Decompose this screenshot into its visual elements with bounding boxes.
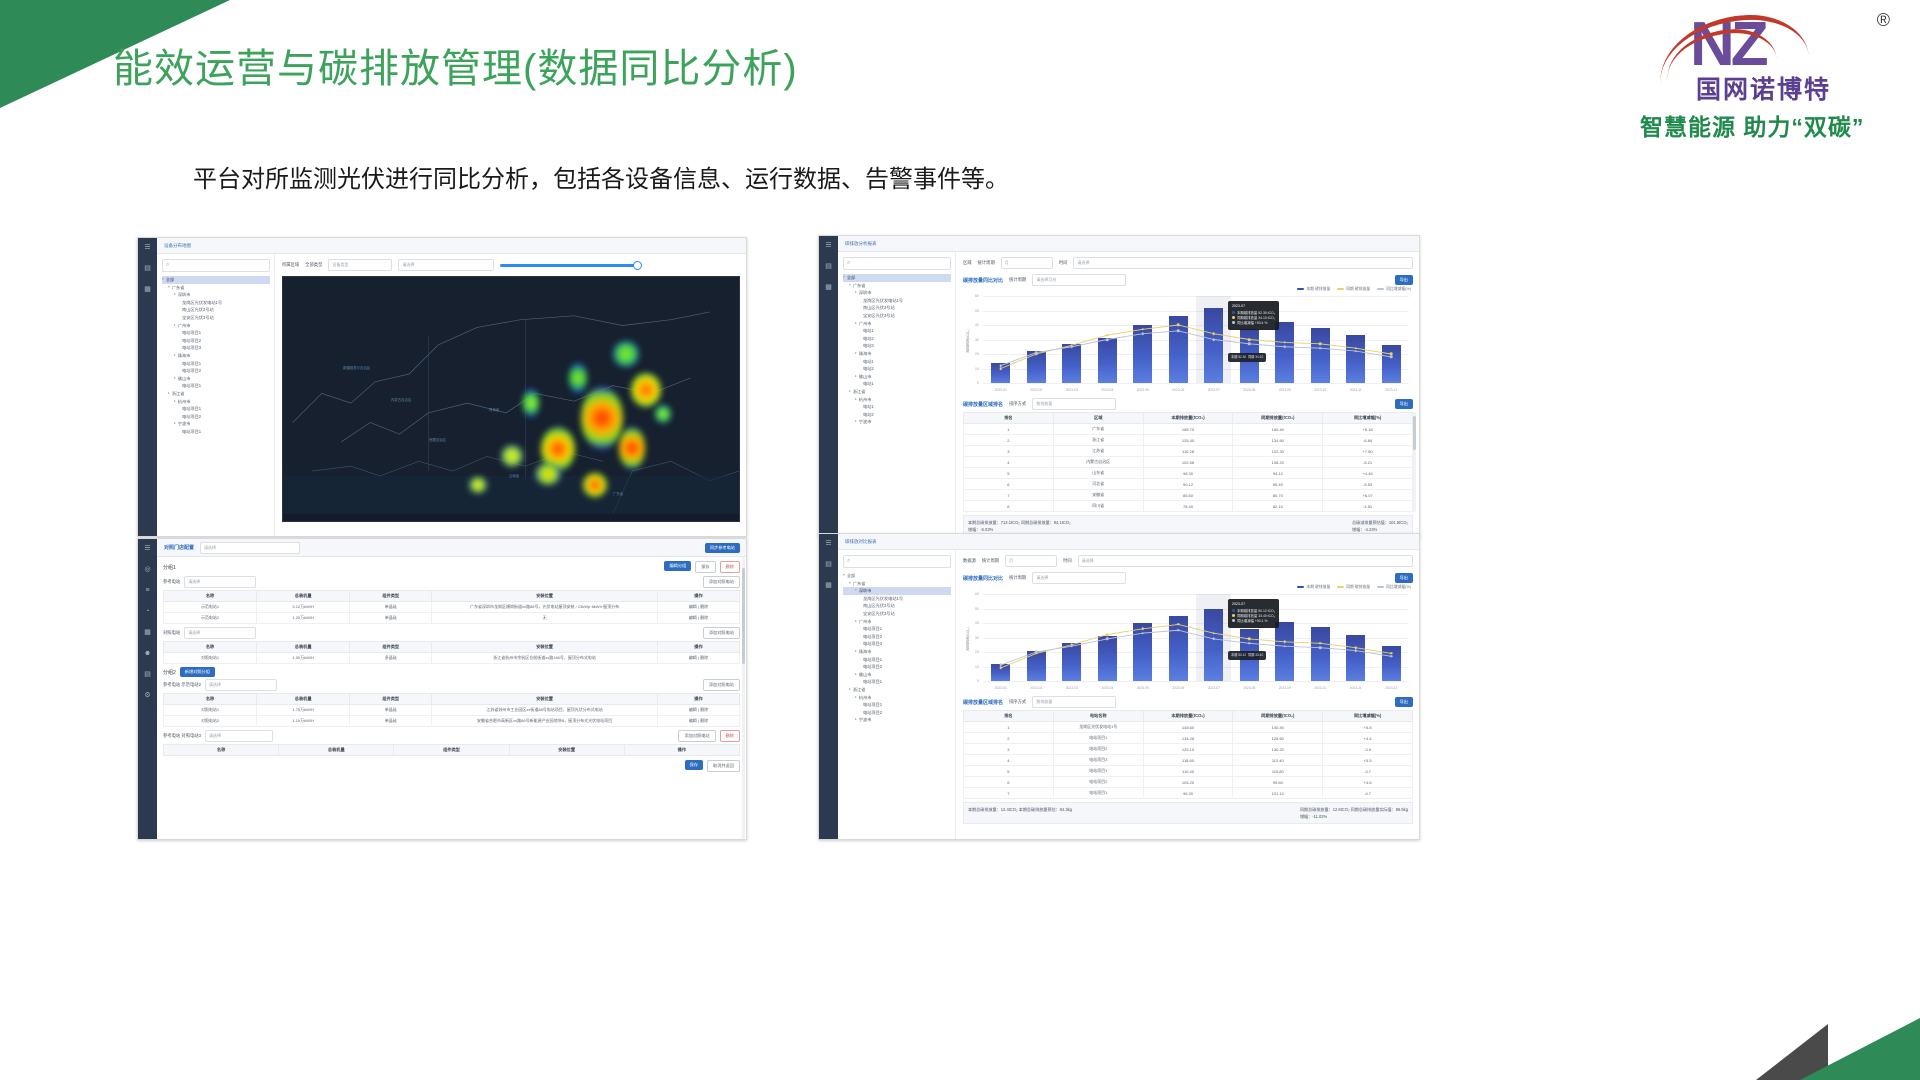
chevron-icon[interactable]: ▸ [174, 420, 176, 428]
chevron-icon[interactable]: ▸ [855, 373, 857, 381]
section-select[interactable]: 请选择 [205, 679, 277, 691]
tree-node-label: 浙江省 [172, 390, 185, 398]
tree-node[interactable]: 电站项目2 [162, 413, 270, 421]
menu-icon[interactable]: ☰ [143, 544, 152, 553]
logo-company-name: 国网诺博特 [1696, 70, 1831, 106]
tree-node[interactable]: 电站项目1 [843, 656, 951, 664]
tree-node[interactable]: 电站项目1 [843, 678, 951, 686]
gauge-icon[interactable]: ◔ [143, 607, 152, 616]
save-button[interactable]: 保存 [685, 760, 703, 770]
table-cell: 102.30 [1233, 446, 1323, 457]
data-point[interactable] [1354, 649, 1357, 652]
chevron-icon[interactable]: ▾ [843, 274, 845, 282]
doc-icon[interactable]: ▦ [824, 581, 833, 590]
table-column-header[interactable]: 排名 [964, 413, 1054, 424]
chevron-icon[interactable]: ▸ [174, 322, 176, 330]
data-point[interactable] [1248, 642, 1251, 645]
table-column-header[interactable]: 操作 [624, 745, 739, 756]
table-column-header[interactable]: 操作 [657, 591, 739, 602]
tree-node[interactable]: ▾深圳市 [843, 587, 951, 595]
row-actions[interactable]: 编辑 | 删除 [657, 613, 739, 624]
table-cell: 4 [964, 755, 1054, 766]
table-cell: 江苏省苏州市工业园区xx街道88号电站项目，屋顶光伏分布式电站 [432, 705, 658, 716]
add-compare-station-button[interactable]: 添加对照电站 [703, 576, 740, 588]
table-column-header[interactable]: 本期排放量(tCO₂) [1143, 711, 1233, 722]
scrollbar-thumb[interactable] [742, 568, 745, 664]
data-point[interactable] [1070, 345, 1073, 348]
chevron-icon[interactable]: ▾ [843, 572, 845, 580]
filter-time-select[interactable]: 请选择 [1078, 555, 1413, 567]
section-select[interactable]: 请选择 [184, 627, 256, 639]
legend-label: 同比增减幅(%) [1386, 287, 1411, 291]
y-tick-label: 30 [975, 636, 979, 640]
chevron-icon[interactable]: ▸ [168, 390, 170, 398]
x-tick-label: 2023-06 [1172, 388, 1184, 392]
chart-tooltip: 2023-07本期碳排放量 50.12 tCO₂同期碳排放量 33.40 tCO… [1228, 599, 1279, 627]
x-tick-label: 2023-04 [1101, 686, 1113, 690]
data-point[interactable] [1035, 351, 1038, 354]
table-column-header[interactable]: 电站名称 [1053, 711, 1143, 722]
x-tick-label: 2023-11 [1350, 686, 1362, 690]
heat-blob [501, 445, 523, 467]
search-icon: ⌕ [847, 260, 850, 267]
chevron-icon[interactable]: ▸ [174, 375, 176, 383]
chevron-icon[interactable]: ▸ [855, 350, 857, 358]
tree-node-label: 电站项目1 [863, 701, 882, 709]
tree-node[interactable]: ▸珠海市 [843, 350, 951, 358]
tree-node-label: 广州市 [859, 320, 872, 328]
compare-sections: 参考电站请选择添加对照电站名称总装机量组件类型安装位置操作示范电站13.12万k… [163, 576, 740, 772]
table-column-header[interactable]: 操作 [657, 694, 739, 705]
legend-item[interactable]: 同比增减幅(%) [1377, 287, 1411, 292]
table-column-header[interactable]: 总装机量 [279, 745, 394, 756]
y-tick-label: 10 [975, 367, 979, 371]
tree-node[interactable]: 电站项目2 [843, 663, 951, 671]
filter-type-select[interactable]: 设备类型 [328, 259, 392, 271]
summary-left-line1: 本期总碳排放量：713.1tCO₂ 同期总碳排放量：94.1tCO₂ [968, 519, 1071, 526]
group2-tab[interactable]: 分组2 [163, 669, 176, 676]
tree-node[interactable]: 南山区光伏2号站 [843, 304, 951, 312]
compare-section: 参考电站请选择添加对照电站名称总装机量组件类型安装位置操作示范电站13.12万k… [163, 576, 740, 624]
tree-node[interactable]: ▸广州市 [162, 322, 270, 330]
table-cell: +7.80 [1323, 446, 1413, 457]
chevron-icon[interactable]: ▸ [849, 388, 851, 396]
table-column-header[interactable]: 名称 [164, 642, 257, 653]
tree-node[interactable]: ▾全部 [843, 572, 951, 580]
table-cell: 168.70 [1143, 424, 1233, 435]
table-cell: -4.7 [1323, 788, 1413, 799]
tree-node[interactable]: ▸杭州市 [162, 398, 270, 406]
y-tick-label: 60 [975, 592, 979, 596]
logo-tagline: 智慧能源 助力“双碳” [1640, 108, 1864, 142]
tree-node[interactable]: ▸浙江省 [843, 388, 951, 396]
table-cell: 7 [964, 490, 1054, 501]
tree-node[interactable]: 电站项目1 [162, 405, 270, 413]
carbon-bar-chart[interactable]: 本期 碳排放量同期 碳排放量同比增减幅(%)碳排放量(tCO₂)01020304… [963, 586, 1413, 692]
settings-icon[interactable]: ⚙ [143, 691, 152, 700]
chevron-icon[interactable]: ▸ [855, 320, 857, 328]
table-cell: 80.70 [1233, 490, 1323, 501]
table-row: 6电站项目2104.2099.60+4.6 [964, 777, 1413, 788]
compare-section: 参考电站 示范电站2请选择添加对照电站名称总装机量组件类型安装位置操作对照电站1… [163, 679, 740, 727]
table-cell: 电站项目2 [1053, 777, 1143, 788]
tree-node[interactable]: ▾广东省 [843, 282, 951, 290]
store-select-placeholder: 请选择 [204, 545, 216, 551]
table-column-header[interactable]: 同期排放量(tCO₂) [1233, 413, 1323, 424]
tree-node[interactable]: 电站项目2 [162, 367, 270, 375]
chevron-icon[interactable]: ▸ [855, 418, 857, 426]
table-cell: -5.21 [1323, 457, 1413, 468]
add-compare-station-button[interactable]: 添加对照电站 [703, 679, 740, 691]
table-column-header[interactable]: 名称 [164, 694, 257, 705]
map-filter-bar: 所属区域 全部类型 设备类型 请选择 [282, 259, 740, 271]
filter-source-label: 数据源 [963, 558, 976, 564]
heatmap-map[interactable]: 内蒙古自治区 新疆维吾尔自治区 西藏自治区 青海省 云南省 广东省 [282, 276, 740, 522]
chevron-icon[interactable]: ▾ [855, 587, 857, 595]
tree-node[interactable]: 电站项目1 [843, 701, 951, 709]
x-tick-label: 2023-06 [1172, 686, 1184, 690]
tree-node-label: 电站3 [863, 342, 874, 350]
chevron-icon[interactable]: ▸ [855, 671, 857, 679]
chevron-icon[interactable]: ▸ [174, 352, 176, 360]
footer-select[interactable]: 请选择 [205, 730, 273, 742]
data-point[interactable] [999, 364, 1002, 367]
chevron-icon[interactable]: ▸ [855, 716, 857, 724]
menu-icon[interactable]: ☰ [143, 243, 152, 252]
table-cell: 8 [964, 501, 1054, 512]
footer-add-button[interactable]: 添加对照电站 [678, 730, 715, 742]
tree-node[interactable]: ▸深圳市 [843, 289, 951, 297]
tree-node-label: 宁波市 [859, 716, 872, 724]
row-actions[interactable]: 编辑 | 删除 [657, 602, 739, 613]
rank-sort-value: 按排放量 [1036, 699, 1052, 705]
menu-icon[interactable]: ☰ [824, 241, 833, 250]
data-point[interactable] [1177, 629, 1180, 632]
tree-node[interactable]: ▸广州市 [843, 618, 951, 626]
chart-export-button[interactable]: 导出 [1395, 573, 1413, 583]
vertical-scrollbar[interactable] [1413, 412, 1416, 512]
tree-node[interactable]: 电站项目1 [162, 329, 270, 337]
table-column-header[interactable]: 总装机量 [257, 694, 350, 705]
chevron-icon[interactable]: ▾ [849, 580, 851, 588]
data-point[interactable] [1177, 330, 1180, 333]
tree-node-label: 广东省 [172, 284, 185, 292]
tree-node[interactable]: ▸宁波市 [162, 420, 270, 428]
report-icon[interactable]: ▤ [143, 670, 152, 679]
table-cell: +4.6 [1323, 777, 1413, 788]
tree-node[interactable]: 龙岗区光伏发电站1号 [162, 299, 270, 307]
tree-node[interactable]: 电站2 [843, 365, 951, 373]
filter-region-value[interactable]: 全部类型 [305, 262, 322, 268]
table-row: 6河北省90.1295.40-5.53 [964, 479, 1413, 490]
table-column-header[interactable]: 名称 [164, 745, 279, 756]
rank-table-title: 碳排放量区域排名 [963, 699, 1003, 706]
data-point[interactable] [999, 664, 1002, 667]
tooltip-value: 34.10 tCO₂ [1258, 316, 1275, 320]
map-region-label: 内蒙古自治区 [391, 397, 411, 402]
legend-item[interactable]: 同比增减幅(%) [1377, 585, 1411, 590]
tree-node[interactable]: 电站1 [843, 380, 951, 388]
sync-reference-button[interactable]: 同步参考电站 [705, 543, 740, 553]
tree-node[interactable]: 电站1 [843, 403, 951, 411]
footer-table: 名称总装机量组件类型安装位置操作 [163, 744, 740, 756]
data-point[interactable] [1141, 632, 1144, 635]
table-cell: 安徽省合肥市高新区xx路66号新能源产业园地块B，屋顶分布式光伏电站项目 [432, 716, 658, 727]
tree-node[interactable]: 电站项目3 [843, 640, 951, 648]
tooltip-compare-footer: 本期 52.30 同期 34.10 [1228, 353, 1266, 362]
tree-node-label: 电站2 [863, 365, 874, 373]
table-cell: 90.12 [1143, 479, 1233, 490]
table-cell: 对照电站2 [164, 716, 257, 727]
tree-node[interactable]: ▸宁波市 [843, 418, 951, 426]
row-actions[interactable]: 编辑 | 删除 [657, 716, 739, 727]
section-select[interactable]: 请选择 [184, 576, 256, 588]
tree-node[interactable]: 电站2 [843, 411, 951, 419]
table-column-header[interactable]: 安装位置 [509, 745, 624, 756]
chevron-icon[interactable]: ▸ [855, 694, 857, 702]
table-column-header[interactable]: 区域 [1053, 413, 1143, 424]
table-column-header[interactable]: 总装机量 [257, 642, 350, 653]
tree-node[interactable]: ▸宁波市 [843, 716, 951, 724]
data-point[interactable] [1106, 338, 1109, 341]
doc-icon[interactable]: ▦ [824, 283, 833, 292]
tree-node[interactable]: ▸浙江省 [162, 390, 270, 398]
tree-node[interactable]: ▸佛山市 [162, 375, 270, 383]
summary-right-line2: 增幅：-11.02% [1300, 813, 1408, 820]
rank-sort-select[interactable]: 按排放量 [1032, 696, 1116, 708]
section-select-placeholder: 请选择 [188, 579, 200, 585]
data-point[interactable] [1390, 655, 1393, 658]
dashboard-icon[interactable]: ◎ [143, 565, 152, 574]
tree-node[interactable]: ▾全部 [162, 276, 270, 284]
table-column-header[interactable]: 安装位置 [432, 694, 658, 705]
grid-icon[interactable]: ▦ [143, 628, 152, 637]
breadcrumb-bar: 碳排放对比报表 [838, 534, 1419, 550]
y-tick-label: 20 [975, 650, 979, 654]
tree-node[interactable]: 宝安区光伏3号站 [843, 312, 951, 320]
tree-node[interactable]: ▸浙江省 [843, 686, 951, 694]
data-point[interactable] [1354, 350, 1357, 353]
chevron-icon[interactable]: ▸ [855, 396, 857, 404]
table-row: 对照电站11.00万kW/H多晶硅浙江省杭州市余杭区仓前街道xx路166号，屋顶… [164, 653, 740, 664]
chevron-icon[interactable]: ▾ [849, 282, 851, 290]
chevron-icon[interactable]: ▾ [162, 276, 164, 284]
tree-search-input[interactable]: ⌕ [843, 555, 951, 568]
store-select[interactable]: 请选择 [200, 542, 300, 554]
data-point[interactable] [1212, 638, 1215, 641]
chevron-icon[interactable]: ▸ [855, 618, 857, 626]
rank-export-button[interactable]: 导出 [1395, 399, 1413, 409]
filter-period-label: 统计周期 [982, 558, 999, 564]
legend-item[interactable]: 本期 碳排放量 [1297, 287, 1330, 292]
filter-period-select[interactable]: 月 [1001, 257, 1053, 269]
tree-search-input[interactable]: ⌕ [162, 259, 270, 272]
tree-node[interactable]: ▸珠海市 [162, 352, 270, 360]
tree-node[interactable]: ▸杭州市 [843, 694, 951, 702]
legend-item[interactable]: 本期 碳排放量 [1297, 585, 1330, 590]
tree-node[interactable]: ▾广东省 [843, 580, 951, 588]
tree-node-label: 深圳市 [859, 289, 872, 297]
data-point[interactable] [1283, 345, 1286, 348]
region-tree-panel: ⌕ ▾全部▾广东省▸深圳市龙岗区光伏发电站1号南山区光伏2号站宝安区光伏3号站▸… [157, 254, 275, 536]
table-column-header[interactable]: 组件类型 [394, 745, 509, 756]
table-column-header[interactable]: 安装位置 [432, 591, 658, 602]
chart-period-select[interactable]: 请选择 [1032, 572, 1126, 584]
heatmap-intensity-slider[interactable] [500, 260, 640, 270]
filter-time-select[interactable]: 请选择 [398, 259, 494, 271]
region-tree-panel: ⌕ ▾全部▾广东省▸深圳市龙岗区光伏发电站1号南山区光伏2号站宝安区光伏3号站▸… [838, 252, 956, 536]
tree-node[interactable]: 电站项目1 [162, 360, 270, 368]
tree-node[interactable]: ▾广东省 [162, 284, 270, 292]
group2-header: 分组2新增对照分组 [163, 667, 740, 677]
table-column-header[interactable]: 排名 [964, 711, 1054, 722]
add-group-button[interactable]: 新增对照分组 [180, 667, 215, 677]
table-column-header[interactable]: 同期排放量(tCO₂) [1233, 711, 1323, 722]
tree-node-label: 电站项目1 [182, 360, 201, 368]
slide-subtitle: 平台对所监测光伏进行同比分析，包括各设备信息、运行数据、告警事件等。 [193, 159, 1009, 194]
table-column-header[interactable]: 组件类型 [350, 642, 432, 653]
tree-node[interactable]: ▸杭州市 [843, 396, 951, 404]
tree-node[interactable]: 电站项目2 [162, 337, 270, 345]
chevron-icon[interactable]: ▸ [174, 291, 176, 299]
legend-swatch [1297, 586, 1304, 588]
row-actions[interactable]: 编辑 | 删除 [657, 705, 739, 716]
table-cell: 广东省深圳市龙岗区横岗街道xx路88号，光伏电站屋顶安装 / 23kWp·8kW… [432, 602, 658, 613]
tree-node[interactable]: 电站1 [843, 327, 951, 335]
table-column-header[interactable]: 安装位置 [432, 642, 658, 653]
tree-node[interactable]: ▸佛山市 [843, 373, 951, 381]
filter-period-select[interactable]: 月 [1005, 555, 1057, 567]
edit-group-button[interactable]: 编辑分组 [664, 561, 691, 571]
data-point[interactable] [1035, 651, 1038, 654]
table-cell: 160.40 [1233, 424, 1323, 435]
tree-node[interactable]: 电站3 [843, 342, 951, 350]
chart-icon[interactable]: ▤ [824, 262, 833, 271]
user-icon[interactable]: ☻ [143, 649, 152, 658]
tree-node[interactable]: 龙岗区光伏发电站1号 [843, 595, 951, 603]
chevron-icon[interactable]: ▸ [855, 289, 857, 297]
table-column-header[interactable]: 操作 [657, 642, 739, 653]
table-column-header[interactable]: 总装机量 [257, 591, 350, 602]
tree-node[interactable]: 电站项目2 [843, 709, 951, 717]
tree-node[interactable]: 电站1 [843, 358, 951, 366]
tree-node[interactable]: 南山区光伏2号站 [843, 602, 951, 610]
table-column-header[interactable]: 同比增减幅(%) [1323, 711, 1413, 722]
tree-node[interactable]: ▸佛山市 [843, 671, 951, 679]
tree-node[interactable]: 电站2 [843, 335, 951, 343]
filter-time-select[interactable]: 请选择 [1073, 257, 1413, 269]
footer-delete-button[interactable]: 删除 [720, 730, 740, 742]
data-point[interactable] [1141, 332, 1144, 335]
x-tick-label: 2023-12 [1385, 388, 1397, 392]
data-point[interactable] [1212, 338, 1215, 341]
chevron-icon[interactable]: ▸ [849, 686, 851, 694]
tree-search-input[interactable]: ⌕ [843, 257, 951, 270]
tree-node[interactable]: 宝安区光伏3号站 [162, 314, 270, 322]
data-point[interactable] [1319, 347, 1322, 350]
data-point[interactable] [1283, 645, 1286, 648]
section-label: 参考电站 [163, 579, 180, 585]
table-column-header[interactable]: 本期排放量(tCO₂) [1143, 413, 1233, 424]
legend-item[interactable]: 同期 碳排放量 [1337, 585, 1370, 590]
tree-node[interactable]: 南山区光伏2号站 [162, 306, 270, 314]
list-icon[interactable]: ≡ [143, 586, 152, 595]
vertical-scrollbar[interactable] [742, 557, 745, 839]
tree-node[interactable]: ▾全部 [843, 274, 951, 282]
data-point[interactable] [1248, 343, 1251, 346]
rank-sort-select[interactable]: 按排放量 [1032, 398, 1116, 410]
tree-node[interactable]: 龙岗区光伏发电站1号 [843, 297, 951, 305]
tree-node-label: 广东省 [853, 580, 866, 588]
chevron-icon[interactable]: ▸ [855, 648, 857, 656]
table-cell: 125.10 [1143, 744, 1233, 755]
data-point[interactable] [1106, 638, 1109, 641]
tree-node[interactable]: 宝安区光伏3号站 [843, 610, 951, 618]
scrollbar-thumb[interactable] [1413, 416, 1416, 450]
legend-item[interactable]: 同期 碳排放量 [1337, 287, 1370, 292]
add-compare-station-button[interactable]: 添加对照电站 [703, 627, 740, 639]
map-region-label: 新疆维吾尔自治区 [343, 365, 370, 370]
tree-node-label: 电站项目3 [863, 640, 882, 648]
tree-node[interactable]: ▸珠海市 [843, 648, 951, 656]
tree-node-label: 电站项目1 [182, 329, 201, 337]
tree-node[interactable]: 电站项目2 [843, 633, 951, 641]
heat-blob [655, 405, 671, 423]
y-tick-label: 10 [975, 665, 979, 669]
tree-node[interactable]: ▸深圳市 [162, 291, 270, 299]
tree-node[interactable]: 电站项目1 [843, 625, 951, 633]
tree-node-label: 电站项目1 [182, 382, 201, 390]
config-toolbar: 对照门店配置 请选择 同步参考电站 [157, 539, 746, 557]
tree-node[interactable]: 电站项目3 [162, 344, 270, 352]
save-group-button[interactable]: 保存 [695, 561, 715, 573]
rank-export-button[interactable]: 导出 [1395, 697, 1413, 707]
chevron-icon[interactable]: ▾ [168, 284, 170, 292]
data-point[interactable] [1390, 356, 1393, 359]
slider-handle[interactable] [633, 261, 642, 270]
doc-icon[interactable]: ▦ [143, 285, 152, 294]
tree-node-label: 深圳市 [859, 587, 872, 595]
chart-icon[interactable]: ▤ [143, 264, 152, 273]
table-cell: 电站项目2 [1053, 744, 1143, 755]
group2-footer: 参考电站 对照电站3请选择添加对照电站删除 [163, 730, 740, 742]
compare-work-area: 数据源 统计周期 月 时间 请选择 碳排放量同比对比 统计周期 请选择 [956, 550, 1419, 839]
tree-node[interactable]: 电站项目1 [162, 428, 270, 436]
tree-node[interactable]: 电站项目1 [162, 382, 270, 390]
cancel-button[interactable]: 取消并返回 [707, 760, 740, 772]
chart-icon[interactable]: ▤ [824, 560, 833, 569]
chart-export-button[interactable]: 导出 [1395, 275, 1413, 285]
chevron-icon[interactable]: ▸ [174, 398, 176, 406]
data-point[interactable] [1070, 645, 1073, 648]
tree-node[interactable]: ▸广州市 [843, 320, 951, 328]
chart-period-label: 统计周期 [1009, 277, 1026, 283]
row-actions[interactable]: 编辑 | 删除 [657, 653, 739, 664]
tooltip-row: 同比增减幅 +53.4 % [1232, 321, 1275, 326]
delete-group-button[interactable]: 删除 [720, 561, 740, 573]
compare-table: 名称总装机量组件类型安装位置操作对照电站11.75万kW/H单晶硅江苏省苏州市工… [163, 693, 740, 727]
table-column-header[interactable]: 名称 [164, 591, 257, 602]
chart-period-select[interactable]: 请选择月份 [1032, 274, 1126, 286]
menu-icon[interactable]: ☰ [824, 539, 833, 548]
table-column-header[interactable]: 同比增减幅(%) [1323, 413, 1413, 424]
table-column-header[interactable]: 组件类型 [350, 694, 432, 705]
table-column-header[interactable]: 组件类型 [350, 591, 432, 602]
heat-blob [581, 387, 623, 449]
carbon-bar-chart[interactable]: 本期 碳排放量同期 碳排放量同比增减幅(%)碳排放量(tCO₂)01020304… [963, 288, 1413, 394]
data-point[interactable] [1319, 646, 1322, 649]
y-axis-title: 碳排放量(tCO₂) [965, 627, 970, 650]
